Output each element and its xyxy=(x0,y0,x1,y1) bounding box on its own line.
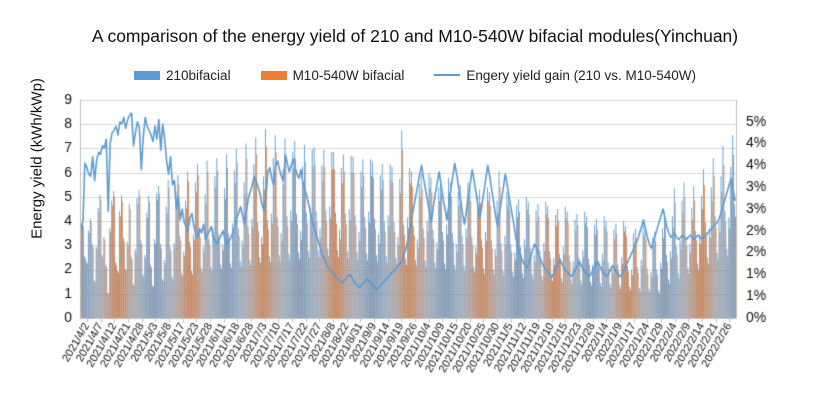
y-axis-left-title: Energy yield (kWh/kWp) xyxy=(29,44,46,274)
chart-container: A comparison of the energy yield of 210 … xyxy=(0,0,830,411)
plot-area xyxy=(0,0,830,411)
